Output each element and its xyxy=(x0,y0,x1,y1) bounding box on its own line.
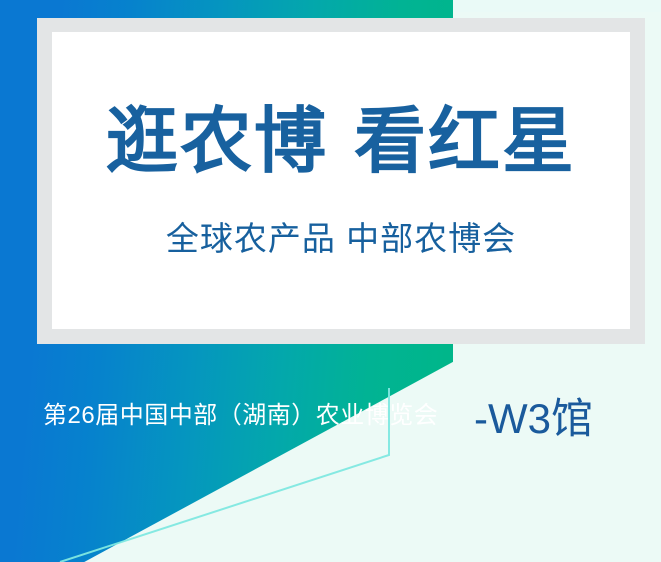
headline-card-content: 逛农博看红星 全球农产品 中部农博会 xyxy=(52,32,630,329)
event-name-banner: 第26届中国中部（湖南）农业博览会 xyxy=(43,404,438,428)
hall-number-label: -W3馆 xyxy=(474,398,593,440)
page-title: 逛农博看红星 xyxy=(106,106,576,178)
headline-card-inner: 逛农博看红星 全球农产品 中部农博会 xyxy=(52,32,630,329)
poster-canvas: 逛农博看红星 全球农产品 中部农博会 第26届中国中部（湖南）农业博览会 -W3… xyxy=(0,0,661,562)
headline-part-2: 看红星 xyxy=(354,102,576,182)
headline-card-frame: 逛农博看红星 全球农产品 中部农博会 xyxy=(37,18,645,344)
headline-part-1: 逛农博 xyxy=(106,102,328,182)
page-subtitle: 全球农产品 中部农博会 xyxy=(166,222,516,255)
top-right-fill xyxy=(452,0,661,12)
